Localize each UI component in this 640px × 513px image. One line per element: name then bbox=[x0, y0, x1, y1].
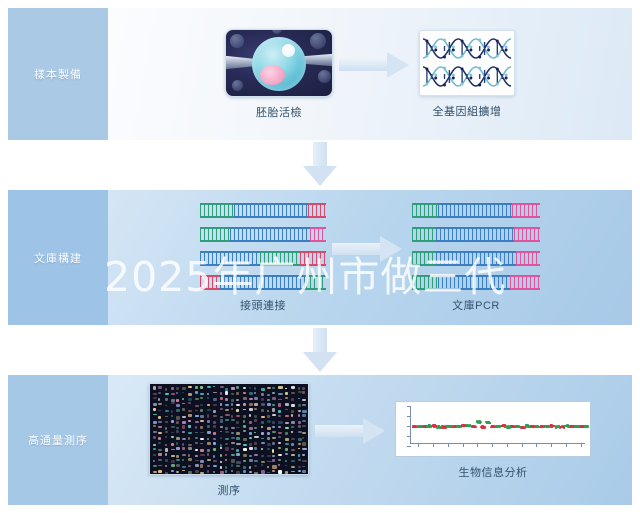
dna-ladder-segment bbox=[514, 227, 540, 242]
gel-band bbox=[267, 387, 271, 390]
gel-band bbox=[188, 447, 192, 450]
gel-band bbox=[243, 420, 245, 423]
gel-band bbox=[302, 410, 306, 413]
dna-ladder-rungs bbox=[220, 277, 306, 288]
gel-band bbox=[195, 449, 198, 451]
gel-band bbox=[225, 431, 229, 433]
dna-ladder-segment bbox=[200, 275, 220, 290]
inner-cell-mass-shape bbox=[260, 65, 285, 85]
gel-band bbox=[220, 426, 224, 429]
gel-band bbox=[254, 419, 257, 422]
gel-band bbox=[176, 455, 179, 458]
gel-band bbox=[243, 392, 246, 394]
gel-band bbox=[195, 470, 198, 473]
gel-band bbox=[207, 397, 210, 399]
gel-band bbox=[261, 448, 263, 450]
dna-ladder-rungs bbox=[412, 277, 438, 288]
gel-band bbox=[231, 403, 233, 406]
dna-ladder-rungs bbox=[230, 229, 310, 240]
gel-band bbox=[207, 470, 209, 473]
gel-band bbox=[291, 431, 293, 433]
gel-band bbox=[236, 461, 241, 464]
gel-band bbox=[302, 470, 306, 473]
gel-band bbox=[249, 387, 251, 389]
gel-band bbox=[153, 444, 157, 446]
dna-ladder-rungs bbox=[200, 253, 260, 264]
gel-band bbox=[182, 459, 184, 461]
gel-band bbox=[171, 432, 174, 434]
caption-whole-genome-amplification: 全基因組擴增 bbox=[433, 103, 502, 119]
gel-band bbox=[261, 398, 265, 401]
chart-x-tick bbox=[551, 443, 552, 447]
gel-band bbox=[291, 421, 295, 424]
dna-ladder-segment bbox=[308, 203, 326, 218]
gel-band bbox=[254, 408, 257, 410]
dna-ladder-rungs bbox=[436, 229, 514, 240]
gel-band bbox=[153, 408, 157, 411]
gel-band bbox=[182, 398, 184, 400]
chart-x-tick bbox=[536, 443, 537, 447]
gel-band bbox=[249, 398, 253, 400]
dna-ladder-rungs bbox=[412, 229, 436, 240]
gel-band bbox=[236, 437, 239, 440]
gel-band bbox=[195, 464, 198, 467]
gel-band bbox=[249, 421, 253, 424]
gel-band bbox=[165, 465, 168, 467]
gel-band bbox=[236, 471, 240, 474]
gel-band bbox=[225, 443, 228, 446]
gel-band bbox=[176, 442, 178, 445]
gel-band bbox=[236, 453, 240, 456]
gel-band bbox=[291, 410, 294, 413]
gel-band bbox=[153, 393, 157, 395]
chart-x-tick bbox=[507, 443, 508, 447]
gel-band bbox=[261, 432, 265, 435]
gel-band bbox=[158, 392, 161, 394]
gel-band bbox=[267, 432, 270, 435]
gel-band bbox=[188, 437, 190, 440]
cnv-chart-plot-area bbox=[410, 406, 585, 444]
cnv-data-point bbox=[547, 426, 549, 428]
gel-band bbox=[195, 421, 199, 423]
gel-band bbox=[285, 465, 287, 467]
gel-band bbox=[285, 453, 288, 455]
cnv-data-point bbox=[550, 426, 552, 428]
dna-ladder-rungs bbox=[438, 205, 512, 216]
gel-band bbox=[231, 454, 235, 457]
gel-band bbox=[272, 431, 276, 433]
gel-band bbox=[278, 399, 282, 401]
cnv-data-point bbox=[478, 421, 480, 423]
gel-band bbox=[291, 414, 293, 417]
gel-band bbox=[158, 398, 160, 401]
dna-ladder-segment bbox=[412, 227, 436, 242]
gel-band bbox=[195, 455, 198, 458]
stage-library-pcr: 文庫PCR bbox=[412, 203, 540, 313]
gel-band bbox=[188, 471, 192, 474]
gel-band bbox=[285, 443, 289, 446]
dna-ladder-segment bbox=[510, 275, 540, 290]
gel-band bbox=[285, 427, 289, 430]
gel-band bbox=[302, 387, 305, 390]
gel-band bbox=[267, 461, 271, 463]
gel-band bbox=[231, 408, 234, 410]
gel-band bbox=[171, 415, 173, 418]
chart-x-tick bbox=[522, 443, 523, 447]
dna-ladder-group-left-icon bbox=[200, 203, 326, 290]
stage-sequencing: 測序 bbox=[149, 383, 309, 498]
gel-band bbox=[182, 447, 185, 450]
gel-band bbox=[213, 432, 217, 435]
gel-band bbox=[176, 471, 179, 473]
stage-embryo-biopsy: 胚胎活檢 bbox=[225, 29, 333, 120]
gel-band bbox=[267, 403, 271, 406]
gel-band bbox=[285, 422, 289, 424]
gel-band bbox=[200, 454, 204, 456]
gel-band bbox=[272, 387, 274, 389]
arrow-right-icon-row1 bbox=[339, 52, 413, 78]
gel-band bbox=[220, 419, 223, 422]
gel-band bbox=[171, 460, 175, 463]
gel-band bbox=[207, 449, 211, 452]
gel-band bbox=[291, 454, 295, 456]
cnv-data-point bbox=[489, 422, 491, 424]
gel-band bbox=[243, 403, 246, 406]
dna-ladder-rungs bbox=[438, 277, 510, 288]
gel-band bbox=[285, 409, 288, 411]
gel-band bbox=[220, 431, 222, 433]
gel-band bbox=[278, 403, 281, 406]
gel-band bbox=[298, 387, 301, 390]
gel-band bbox=[261, 464, 263, 466]
gel-band bbox=[243, 397, 247, 400]
gel-band bbox=[153, 436, 156, 439]
gel-band bbox=[298, 404, 302, 407]
dna-ladder-rungs bbox=[308, 205, 326, 216]
gel-band bbox=[182, 425, 185, 429]
gel-band bbox=[254, 427, 257, 429]
gel-band bbox=[153, 465, 157, 467]
gel-band bbox=[171, 464, 175, 467]
gel-band bbox=[153, 414, 157, 416]
chart-x-tick bbox=[448, 443, 449, 447]
gel-band bbox=[231, 427, 236, 429]
gel-band bbox=[278, 432, 281, 434]
gel-band bbox=[285, 471, 288, 474]
dna-ladder-segment bbox=[412, 203, 438, 218]
cnv-data-point bbox=[516, 425, 518, 427]
gel-band bbox=[278, 415, 281, 417]
gel-band bbox=[231, 415, 234, 418]
dna-ladder-segment bbox=[516, 251, 540, 266]
dna-ladder-rungs bbox=[200, 277, 220, 288]
dna-ladder-rungs bbox=[510, 277, 540, 288]
gel-band bbox=[188, 386, 192, 388]
gel-band bbox=[207, 465, 211, 467]
gel-band bbox=[213, 455, 216, 458]
gel-band bbox=[225, 454, 227, 457]
gel-band bbox=[243, 415, 246, 418]
arrow-down-icon-1 bbox=[303, 142, 337, 186]
dna-ladder-segment bbox=[300, 251, 326, 266]
dna-ladder-rungs bbox=[234, 205, 308, 216]
gel-band bbox=[225, 470, 227, 473]
gel-band bbox=[278, 470, 282, 473]
gel-band bbox=[171, 420, 174, 423]
gel-band bbox=[207, 393, 209, 395]
dna-ladder-rungs bbox=[306, 277, 326, 288]
gel-band bbox=[200, 409, 203, 412]
gel-band bbox=[165, 405, 168, 407]
gel-band bbox=[171, 436, 174, 438]
gel-band bbox=[249, 414, 251, 418]
gel-band bbox=[254, 392, 256, 394]
gel-band bbox=[291, 443, 294, 446]
gel-band bbox=[267, 472, 270, 474]
gel-band bbox=[182, 454, 186, 456]
gel-band bbox=[225, 398, 228, 401]
gel-band bbox=[243, 444, 247, 447]
gel-band bbox=[278, 410, 281, 413]
gel-band bbox=[236, 399, 239, 401]
gel-band bbox=[158, 416, 161, 419]
gel-band bbox=[213, 404, 217, 406]
gel-band bbox=[220, 403, 222, 405]
gel-band bbox=[278, 447, 281, 449]
gel-band bbox=[176, 421, 179, 425]
gel-band bbox=[249, 471, 252, 473]
gel-band bbox=[158, 437, 161, 440]
gel-band bbox=[200, 438, 204, 440]
chart-x-tick bbox=[581, 443, 582, 447]
gel-band bbox=[243, 466, 246, 469]
gel-band bbox=[195, 437, 198, 439]
dna-ladder-segment bbox=[260, 251, 300, 266]
gel-band bbox=[220, 466, 222, 469]
gel-band bbox=[188, 465, 191, 467]
dna-ladder-rungs bbox=[412, 205, 438, 216]
gel-band bbox=[278, 454, 281, 456]
gel-band bbox=[213, 410, 217, 413]
gel-band bbox=[165, 388, 167, 391]
gel-band bbox=[213, 398, 217, 401]
gel-band bbox=[171, 443, 174, 446]
gel-band bbox=[171, 449, 175, 451]
gel-band bbox=[254, 447, 257, 450]
gel-band bbox=[254, 403, 257, 406]
dna-ladder-rungs bbox=[436, 253, 516, 264]
gel-band bbox=[231, 464, 233, 467]
gel-band bbox=[182, 403, 185, 405]
gel-band bbox=[176, 409, 180, 412]
gel-band bbox=[291, 386, 295, 389]
gel-band bbox=[207, 453, 210, 456]
gel-band bbox=[231, 442, 235, 445]
gel-band bbox=[207, 404, 211, 406]
gel-band bbox=[207, 409, 211, 411]
gel-band bbox=[261, 461, 265, 464]
gel-band bbox=[285, 415, 289, 417]
gel-band bbox=[272, 421, 275, 424]
gel-band bbox=[261, 426, 263, 428]
gel-band bbox=[176, 404, 180, 407]
gel-band bbox=[176, 447, 180, 450]
gel-band bbox=[302, 448, 306, 451]
gel-band bbox=[200, 426, 203, 429]
gel-band bbox=[285, 388, 287, 390]
dna-ladder-segment bbox=[412, 275, 438, 290]
gel-band bbox=[188, 458, 192, 460]
gel-band bbox=[267, 410, 269, 412]
gel-band bbox=[207, 425, 210, 428]
gel-band bbox=[158, 442, 161, 444]
gel-band bbox=[171, 402, 175, 404]
gel-band bbox=[243, 409, 246, 411]
gel-band bbox=[182, 443, 184, 446]
gel-band bbox=[243, 430, 246, 432]
gel-band bbox=[267, 415, 270, 417]
gel-band bbox=[302, 466, 304, 468]
gel-band bbox=[298, 454, 301, 457]
gel-band bbox=[213, 392, 217, 394]
gel-band bbox=[225, 404, 229, 407]
gel-band bbox=[272, 404, 275, 406]
dna-ladder-rungs bbox=[260, 253, 300, 264]
cnv-data-point bbox=[568, 425, 570, 427]
gel-band bbox=[267, 427, 271, 430]
caption-library-pcr: 文庫PCR bbox=[452, 297, 500, 313]
gel-band bbox=[213, 460, 217, 462]
gel-band bbox=[165, 444, 168, 446]
gel-band bbox=[153, 431, 157, 433]
gel-band bbox=[236, 432, 240, 435]
gel-band bbox=[298, 410, 302, 413]
gel-band bbox=[188, 414, 192, 417]
gel-band bbox=[165, 448, 168, 452]
gel-band bbox=[236, 449, 239, 452]
gel-band bbox=[225, 419, 229, 421]
row-body-high-throughput-sequencing: 測序 生物信息分析 bbox=[108, 375, 632, 505]
gel-band bbox=[272, 408, 275, 411]
gel-band bbox=[302, 437, 304, 440]
gel-band bbox=[153, 448, 156, 450]
gel-band bbox=[261, 455, 265, 458]
cnv-data-point bbox=[453, 425, 455, 427]
gel-band bbox=[153, 454, 156, 456]
gel-band bbox=[298, 470, 302, 472]
gel-band bbox=[153, 460, 156, 462]
chart-y-tick bbox=[407, 416, 411, 417]
dna-ladder-segment bbox=[436, 227, 514, 242]
gel-band bbox=[200, 397, 203, 399]
dna-ladder-strand bbox=[200, 275, 326, 290]
gel-band bbox=[195, 415, 199, 418]
cnv-data-point bbox=[468, 425, 470, 427]
gel-band bbox=[272, 414, 276, 416]
gel-band bbox=[243, 438, 247, 440]
dna-ladder-segment bbox=[200, 203, 234, 218]
dna-helix-icon bbox=[423, 36, 511, 61]
gel-band bbox=[213, 438, 216, 440]
blastocyst-shape bbox=[252, 37, 306, 91]
gel-band bbox=[249, 408, 253, 411]
gel-band bbox=[267, 455, 271, 457]
gel-band bbox=[153, 425, 156, 427]
gel-band bbox=[243, 387, 246, 389]
row-label-library-construction: 文庫構建 bbox=[8, 190, 108, 325]
gel-band bbox=[188, 454, 190, 457]
gel-band bbox=[176, 427, 179, 429]
gel-band bbox=[220, 447, 222, 449]
gel-band bbox=[254, 387, 256, 390]
dna-ladder-segment bbox=[234, 203, 308, 218]
gel-band bbox=[254, 460, 257, 463]
gel-band bbox=[213, 425, 216, 428]
gel-band bbox=[220, 471, 224, 473]
caption-bioinformatics-analysis: 生物信息分析 bbox=[459, 464, 528, 480]
cnv-data-point bbox=[473, 426, 475, 428]
dna-ladder-segment bbox=[412, 251, 436, 266]
dna-ladder-rungs bbox=[300, 253, 326, 264]
gel-band bbox=[236, 392, 239, 395]
dna-ladder-rungs bbox=[200, 229, 230, 240]
gel-band bbox=[298, 398, 301, 400]
gel-band bbox=[158, 421, 162, 423]
gel-band bbox=[182, 470, 185, 472]
gel-band bbox=[200, 460, 204, 463]
gel-band bbox=[220, 437, 222, 439]
gel-band bbox=[261, 470, 265, 474]
cnv-data-point bbox=[499, 426, 501, 428]
gel-band bbox=[272, 455, 275, 458]
gel-band bbox=[267, 394, 270, 396]
dna-ladder-group-right-icon bbox=[412, 203, 540, 290]
gel-band bbox=[213, 421, 217, 424]
gel-band bbox=[231, 459, 235, 462]
dna-helix-panel-icon bbox=[419, 30, 515, 96]
gel-band bbox=[176, 464, 180, 467]
gel-band bbox=[236, 415, 240, 417]
workflow-row-sample-preparation: 樣本製備 胚胎活檢 bbox=[8, 8, 632, 140]
gel-band bbox=[254, 432, 256, 434]
gel-band bbox=[225, 459, 227, 461]
gel-band bbox=[195, 410, 198, 412]
dna-ladder-segment bbox=[438, 203, 512, 218]
gel-band bbox=[298, 425, 302, 427]
chart-y-tick bbox=[407, 436, 411, 437]
chart-x-tick bbox=[566, 443, 567, 447]
cnv-data-point bbox=[483, 427, 485, 429]
gel-band bbox=[200, 449, 204, 452]
gel-band bbox=[261, 403, 265, 406]
gel-band bbox=[158, 465, 162, 467]
gel-band bbox=[200, 393, 203, 395]
cnv-data-point bbox=[502, 425, 504, 427]
gel-band bbox=[236, 443, 240, 445]
gel-band bbox=[213, 442, 217, 445]
gel-band bbox=[158, 426, 162, 429]
caption-sequencing: 測序 bbox=[218, 482, 241, 498]
gel-band bbox=[302, 460, 307, 462]
gel-band bbox=[176, 387, 179, 390]
gel-band bbox=[254, 397, 258, 399]
gel-band bbox=[200, 415, 204, 417]
gel-band bbox=[231, 432, 234, 434]
gel-band bbox=[195, 398, 199, 400]
gel-band bbox=[182, 416, 186, 419]
gel-band bbox=[254, 415, 257, 418]
dna-ladder-segment bbox=[310, 227, 326, 242]
